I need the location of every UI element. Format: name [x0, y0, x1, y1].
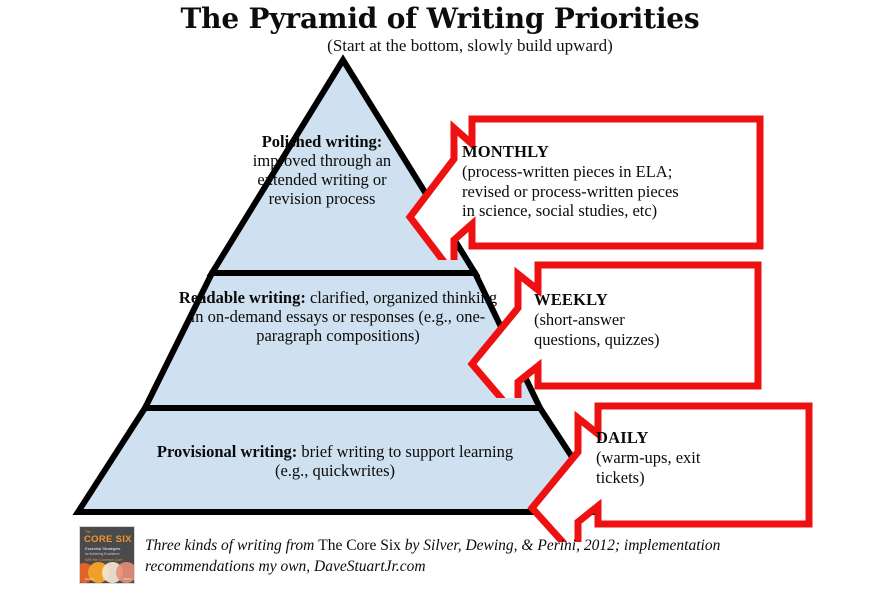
tier-provisional-body: brief writing to support learning (e.g.,… [275, 442, 513, 480]
tier-polished-body: improved through an extended writing or … [253, 151, 391, 208]
caption-part-1: Three kinds of writing from [145, 537, 318, 554]
book-cover-line-1: Essential Strategies [85, 546, 120, 551]
pyramid-tier-provisional-label: Provisional writing: brief writing to su… [140, 442, 530, 480]
callout-weekly-detail-line-2: questions, quizzes) [534, 330, 660, 349]
callout-monthly[interactable]: MONTHLY (process-written pieces in ELA; … [392, 112, 772, 260]
caption-book-title: The Core Six [318, 537, 401, 554]
callout-weekly[interactable]: WEEKLY (short-answer questions, quizzes) [462, 258, 792, 398]
tier-provisional-heading: Provisional writing: [157, 442, 297, 461]
callout-monthly-text: MONTHLY (process-written pieces in ELA; … [462, 142, 752, 221]
source-caption: Three kinds of writing from The Core Six… [145, 535, 765, 578]
book-cover-title: CORE SIX [84, 534, 132, 545]
book-cover-line-2: for Achieving Excellence [85, 552, 120, 556]
callout-daily-detail-line-1: (warm-ups, exit [596, 448, 700, 467]
book-cover-author-3: PERINI [123, 578, 132, 581]
book-cover-line-3: With the Common Core [85, 558, 123, 562]
callout-monthly-frequency: MONTHLY [462, 142, 752, 162]
callout-daily-frequency: DAILY [596, 428, 806, 448]
book-cover-author-2: DEWING [103, 578, 114, 581]
pyramid-tier-polished-label: Polished writing: improved through an ex… [232, 132, 412, 209]
callout-weekly-frequency: WEEKLY [534, 290, 754, 310]
book-cover-author-1: SILVER [85, 578, 94, 581]
callout-daily-detail-line-2: tickets) [596, 468, 645, 487]
book-cover-thumbnail: The CORE SIX Essential Strategies for Ac… [79, 526, 135, 584]
infographic-canvas: The Pyramid of Writing Priorities (Start… [0, 0, 880, 608]
tier-readable-heading: Readable writing: [179, 288, 306, 307]
callout-weekly-detail-line-1: (short-answer [534, 310, 625, 329]
callout-monthly-detail-line-1: (process-written pieces in ELA; [462, 162, 672, 181]
tier-polished-heading: Polished writing: [262, 132, 383, 151]
callout-weekly-text: WEEKLY (short-answer questions, quizzes) [534, 290, 754, 349]
pyramid-tier-readable-label: Readable writing: clarified, organized t… [178, 288, 498, 345]
callout-monthly-detail-line-2: revised or process-written pieces [462, 182, 679, 201]
callout-daily-text: DAILY (warm-ups, exit tickets) [596, 428, 806, 487]
book-cover-authors: SILVER DEWING PERINI [80, 578, 135, 581]
callout-monthly-detail-line-3: in science, social studies, etc) [462, 201, 657, 220]
callout-daily[interactable]: DAILY (warm-ups, exit tickets) [522, 402, 842, 542]
